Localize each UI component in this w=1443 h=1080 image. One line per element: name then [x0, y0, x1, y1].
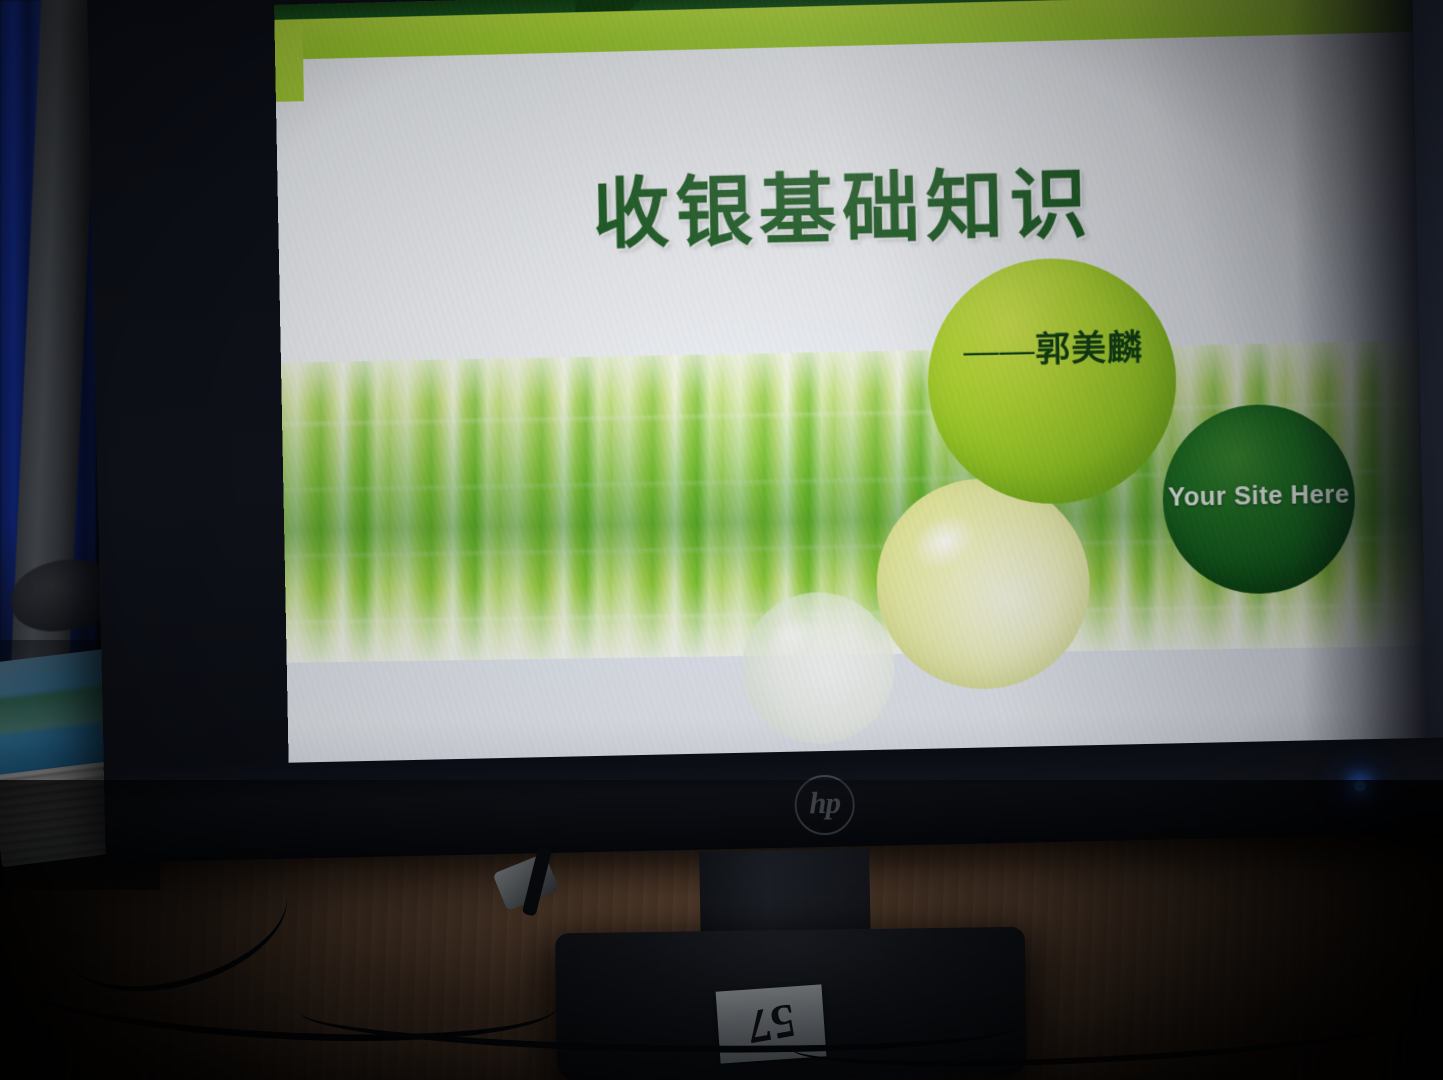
hp-monitor: 收银基础知识 ——郭美麟 Your Site Here: [87, 0, 1443, 863]
slide-author-label: ——郭美麟: [945, 319, 1161, 373]
photo-scene: 收银基础知识 ——郭美麟 Your Site Here: [0, 0, 1443, 1080]
sphere-highlight: [762, 610, 822, 665]
slide-header-notch: [274, 19, 304, 102]
slide-title: 收银基础知识: [277, 134, 1417, 270]
monitor-screen[interactable]: 收银基础知识 ——郭美麟 Your Site Here: [274, 0, 1427, 765]
site-badge-label: Your Site Here: [1163, 480, 1355, 513]
sphere-highlight: [903, 504, 986, 580]
presentation-slide[interactable]: 收银基础知识 ——郭美麟 Your Site Here: [274, 0, 1427, 765]
